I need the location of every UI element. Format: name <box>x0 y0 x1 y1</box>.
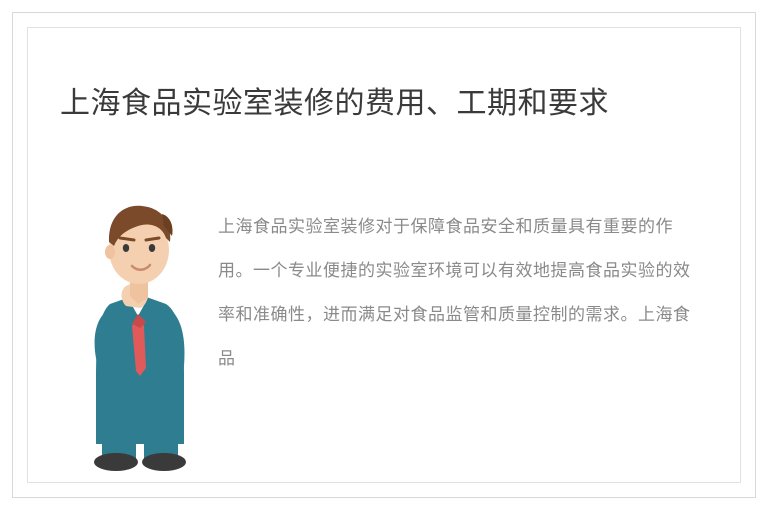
page-title: 上海食品实验室装修的费用、工期和要求 <box>60 82 720 126</box>
article-card: 上海食品实验室装修的费用、工期和要求 <box>12 12 756 498</box>
thinking-businessman-illustration <box>66 186 216 476</box>
article-card-inner-border: 上海食品实验室装修的费用、工期和要求 <box>27 27 741 483</box>
article-body: 上海食品实验室装修对于保障食品安全和质量具有重要的作用。一个专业便捷的实验室环境… <box>218 205 698 381</box>
